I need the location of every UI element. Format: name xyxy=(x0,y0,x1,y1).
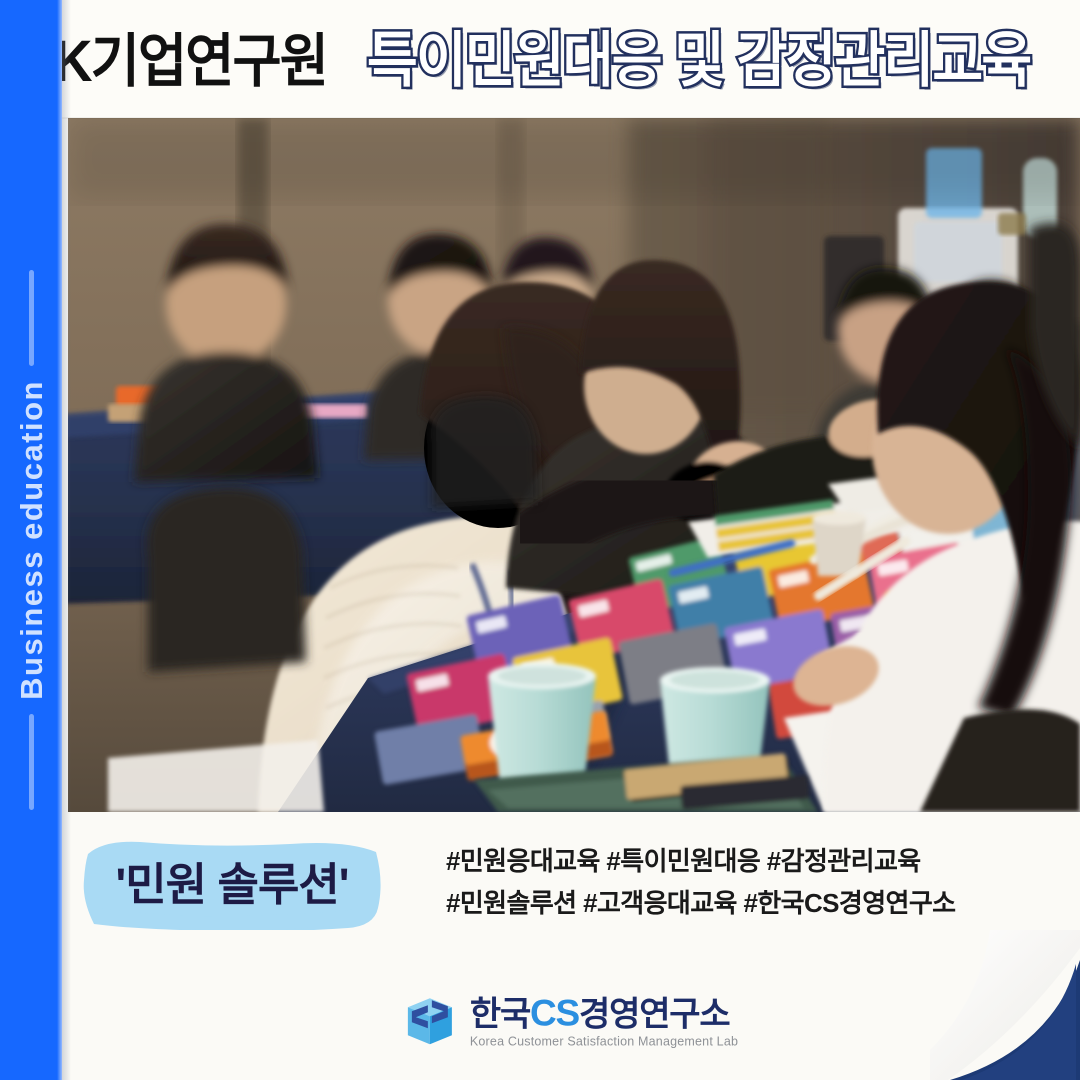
header-separator xyxy=(62,117,1080,119)
brand-text: 한국 CS 경영연구소 Korea Customer Satisfaction … xyxy=(470,994,738,1048)
title-primary: K기업연구원 xyxy=(54,33,327,91)
brand-logo: 한국 CS 경영연구소 Korea Customer Satisfaction … xyxy=(404,994,738,1048)
page-title: K기업연구원 특이민원대응 및 감정관리교육 xyxy=(54,31,1080,91)
brand-name-part1: 한국 xyxy=(470,997,530,1031)
hashtag-line-2: #민원솔루션 #고객응대교육 #한국CS경영연구소 xyxy=(446,882,1046,924)
brand-subtitle: Korea Customer Satisfaction Management L… xyxy=(470,1035,738,1048)
cube-logo-icon xyxy=(404,995,456,1047)
caption-band: '민원 솔루션' #민원응대교육 #특이민원대응 #감정관리교육 #민원솔루션 … xyxy=(68,812,1080,962)
header-bar: K기업연구원 특이민원대응 및 감정관리교육 xyxy=(62,0,1080,118)
brand-name-part2: 경영연구소 xyxy=(579,997,729,1031)
brand-name: 한국 CS 경영연구소 xyxy=(470,994,738,1031)
poster-canvas: Business education K기업연구원 특이민원대응 및 감정관리교… xyxy=(0,0,1080,1080)
hashtag-line-1: #민원응대교육 #특이민원대응 #감정관리교육 xyxy=(446,840,1046,882)
badge-label: '민원 솔루션' xyxy=(82,834,382,926)
rail-dash-top-icon xyxy=(29,270,34,366)
sidebar-rail-content: Business education xyxy=(0,0,62,1080)
hashtag-block: #민원응대교육 #특이민원대응 #감정관리교육 #민원솔루션 #고객응대교육 #… xyxy=(446,840,1046,924)
sidebar-label: Business education xyxy=(16,380,47,700)
solution-badge: '민원 솔루션' xyxy=(82,838,382,930)
rail-shadow xyxy=(62,0,71,1080)
event-photo xyxy=(68,118,1080,812)
title-secondary: 특이민원대응 및 감정관리교육 xyxy=(367,31,1030,91)
footer-bar: 한국 CS 경영연구소 Korea Customer Satisfaction … xyxy=(62,962,1080,1080)
sidebar-rail: Business education xyxy=(0,0,62,1080)
rail-dash-bottom-icon xyxy=(29,714,34,810)
rail-edge-highlight xyxy=(57,0,62,1080)
brand-name-cs: CS xyxy=(530,994,579,1031)
event-photo-illustration xyxy=(68,118,1080,812)
